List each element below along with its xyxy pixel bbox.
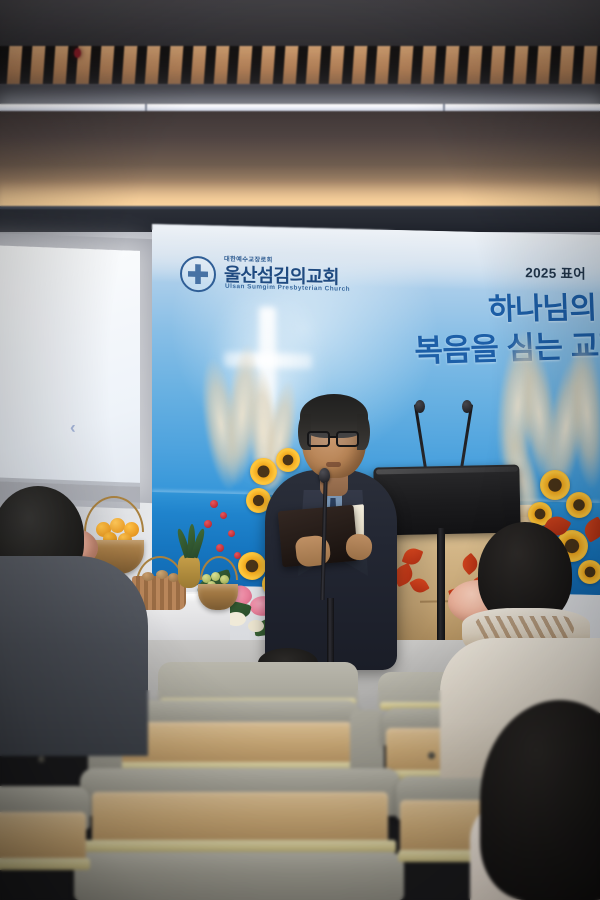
ceiling-slat: [536, 46, 552, 86]
ceiling-slat: [329, 46, 345, 86]
microphone-icon: [319, 468, 330, 483]
sunflower-icon: [238, 552, 266, 580]
sunflower-icon: [578, 560, 600, 584]
ceiling-slat: [467, 46, 483, 86]
potato: [142, 572, 154, 581]
potato: [156, 570, 168, 579]
ceiling-red-indicator-light: [74, 48, 81, 58]
photo-scene: ‹ 대한예수교장로회 울산섬김의교회 Ulsan Sumgim Presbyte…: [0, 0, 600, 900]
ceiling-slat: [283, 46, 299, 86]
ceiling-slat: [122, 46, 138, 86]
chair-trim: [0, 858, 90, 870]
projection-screen-mark: ‹: [70, 420, 84, 437]
ceiling-slat: [398, 46, 414, 86]
chair-wood-panel: [0, 812, 86, 864]
ceiling-wood-slats: [0, 46, 600, 86]
ceiling-slat: [375, 46, 391, 86]
church-logo: 대한예수교장로회 울산섬김의교회 Ulsan Sumgim Presbyteri…: [180, 253, 400, 302]
ceiling-beam-highlight: [0, 206, 600, 209]
chair-knob: [428, 752, 435, 759]
eyeglasses-bridge: [330, 436, 336, 438]
chair-wood-panel: [92, 792, 388, 846]
speaker-mouth: [326, 462, 341, 467]
ceiling-panel: [0, 0, 600, 50]
ceiling-slat: [444, 46, 460, 86]
chair-knob: [38, 756, 45, 763]
pineapple: [178, 554, 200, 588]
ceiling-slat: [191, 46, 207, 86]
projection-screen: [0, 245, 140, 487]
sunflower-icon: [276, 448, 300, 472]
ceiling-slat: [513, 46, 529, 86]
music-stand-post: [437, 528, 445, 650]
berry: [216, 544, 224, 552]
ceiling-slat: [214, 46, 230, 86]
audience-body: [0, 556, 148, 756]
shawl-pattern: [474, 616, 574, 640]
eyeglasses-icon: [336, 431, 359, 447]
linear-led-strip-light: [0, 104, 600, 111]
microphone-icon: [415, 400, 425, 413]
slogan-year-label: 2025 표어: [525, 261, 586, 282]
ceiling-slat: [99, 46, 115, 86]
ceiling-slat: [7, 46, 23, 86]
sunflower-icon: [566, 492, 592, 518]
berry: [234, 552, 241, 559]
grape: [211, 572, 220, 581]
ceiling-slat: [352, 46, 368, 86]
ceiling-soffit: [0, 84, 600, 106]
berry: [204, 520, 212, 528]
ceiling-slat: [30, 46, 46, 86]
sunflower-icon: [540, 470, 570, 500]
ceiling-slat: [237, 46, 253, 86]
white-filler-flower: [248, 620, 264, 632]
ceiling-slat: [53, 46, 69, 86]
led-seam: [443, 104, 445, 111]
ceiling-slat: [145, 46, 161, 86]
ceiling-slat: [306, 46, 322, 86]
chair-seat: [74, 852, 404, 900]
speaker-hair-side: [357, 414, 370, 450]
orange-fruit: [110, 518, 125, 533]
eyeglasses-icon: [307, 431, 330, 447]
ceiling-slat: [421, 46, 437, 86]
ceiling-slat: [490, 46, 506, 86]
berry: [228, 530, 235, 537]
grape: [220, 575, 229, 584]
led-seam: [145, 104, 147, 111]
ceiling-slat: [559, 46, 575, 86]
microphone-icon: [462, 400, 472, 413]
berry: [220, 512, 227, 519]
sunflower-icon: [250, 458, 277, 485]
ceiling-slat: [582, 46, 598, 86]
ceiling-slat: [260, 46, 276, 86]
ceiling-slat: [168, 46, 184, 86]
berry: [210, 500, 218, 508]
